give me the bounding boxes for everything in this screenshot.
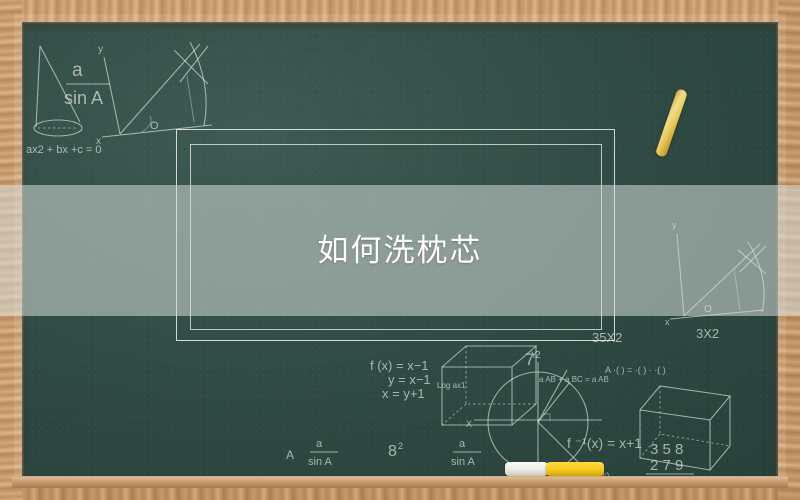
svg-text:f (x) = x−1: f (x) = x−1: [370, 358, 429, 373]
faint-vector-formula-text: a AB + a BC = a AB: [539, 375, 609, 384]
svg-text:sin A: sin A: [308, 456, 333, 468]
svg-text:sin A: sin A: [64, 88, 103, 108]
quadratic-formula-text: ax2 + bx +c = 0: [26, 144, 102, 156]
svg-text:sin A: sin A: [451, 456, 476, 468]
svg-text:2 7 9: 2 7 9: [650, 457, 683, 474]
fraction-a-over-sina-top: a sin A: [64, 60, 110, 108]
svg-text:8: 8: [388, 443, 397, 460]
svg-text:Y: Y: [531, 350, 537, 360]
title-overlay-band: 如何洗枕芯: [0, 185, 800, 316]
inverse-function-text: f ⁻¹(x) = x+1: [567, 435, 642, 451]
fraction-a-over-sina-bottom-1: a sin A: [308, 438, 338, 468]
white-chalk-piece-icon: [505, 462, 548, 476]
svg-text:O: O: [150, 120, 159, 132]
svg-text:y: y: [98, 44, 103, 55]
chalkboard-banner: a sin A ax2 + bx +c = 0 y x O: [0, 0, 800, 500]
exponent-eight-squared: 8 2: [388, 441, 403, 460]
page-title: 如何洗枕芯: [318, 235, 483, 266]
svg-text:y = x−1: y = x−1: [388, 372, 431, 387]
svg-text:3 5 8: 3 5 8: [650, 441, 683, 458]
svg-text:a: a: [459, 438, 466, 450]
log-ax1-text: Log ax1: [437, 381, 466, 390]
svg-text:x = y+1: x = y+1: [382, 386, 425, 401]
chalk-ledge-shelf: [12, 476, 788, 488]
matrix-notation-text: A ·( ) = ·( ) · ·( ): [605, 365, 666, 375]
label-3x2-text: 3X2: [696, 326, 719, 341]
matrix-numbers-text: 3 5 8 2 7 9 6 3 7: [646, 441, 694, 478]
svg-text:x: x: [96, 136, 101, 147]
letter-a-text: A: [286, 448, 294, 462]
svg-text:a: a: [72, 60, 83, 81]
svg-text:2: 2: [398, 441, 403, 451]
function-equations-text: f (x) = x−1 y = x−1 x = y+1: [370, 358, 431, 401]
fraction-a-over-sina-bottom-2: a sin A: [451, 438, 481, 468]
frame-rail-top: [0, 0, 800, 22]
yellow-chalk-piece-icon: [546, 462, 604, 476]
svg-text:X: X: [466, 419, 472, 429]
svg-text:x: x: [665, 317, 670, 327]
svg-text:a: a: [316, 438, 323, 450]
